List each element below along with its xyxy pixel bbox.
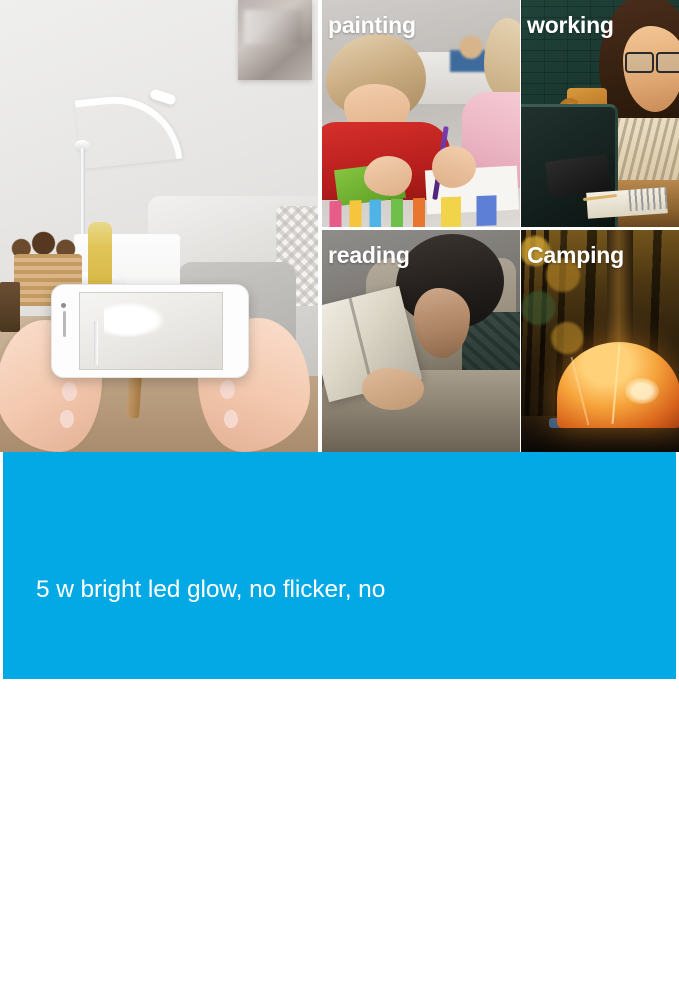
panel-main-lamp-photo xyxy=(0,0,318,452)
spiral-binding xyxy=(628,187,667,212)
product-feature-image: painting working xyxy=(0,0,679,679)
caption-text: 5 w bright led glow, no flicker, no dark… xyxy=(36,502,480,992)
fingernail xyxy=(60,410,74,428)
phone-camera-icon xyxy=(61,303,66,308)
fingernail xyxy=(62,382,77,401)
colored-pencils xyxy=(322,195,520,227)
caption-line-2: dark area, protect your eyes from fatigu… xyxy=(36,677,480,712)
panel-label-working: working xyxy=(527,14,614,37)
caption-band: 5 w bright led glow, no flicker, no dark… xyxy=(3,452,676,679)
caption-line-1: 5 w bright led glow, no flicker, no xyxy=(36,572,480,607)
child-one-hand xyxy=(364,156,412,196)
panel-reading: reading xyxy=(322,230,520,452)
panel-label-camping: Camping xyxy=(527,244,624,267)
small-picture-frame xyxy=(0,282,20,332)
panel-painting: painting xyxy=(322,0,520,227)
smartphone xyxy=(51,284,249,378)
caption-line-3: a great accompany for college xyxy=(36,782,480,817)
tent-window-glow xyxy=(625,378,659,404)
panel-camping: Camping xyxy=(521,230,679,452)
panel-label-painting: painting xyxy=(328,14,416,37)
phone-speaker xyxy=(63,311,66,337)
caption-line-4: students, children, adults, travels, etc… xyxy=(36,887,480,922)
fingernail xyxy=(220,380,235,399)
panel-label-reading: reading xyxy=(328,244,410,267)
fingernail xyxy=(224,410,238,428)
photo-grid: painting working xyxy=(0,0,679,452)
phone-screen xyxy=(79,292,223,370)
framed-artwork xyxy=(238,0,312,80)
panel-working: working xyxy=(521,0,679,227)
eyeglasses-icon xyxy=(625,52,679,69)
reader-hand xyxy=(362,368,424,410)
